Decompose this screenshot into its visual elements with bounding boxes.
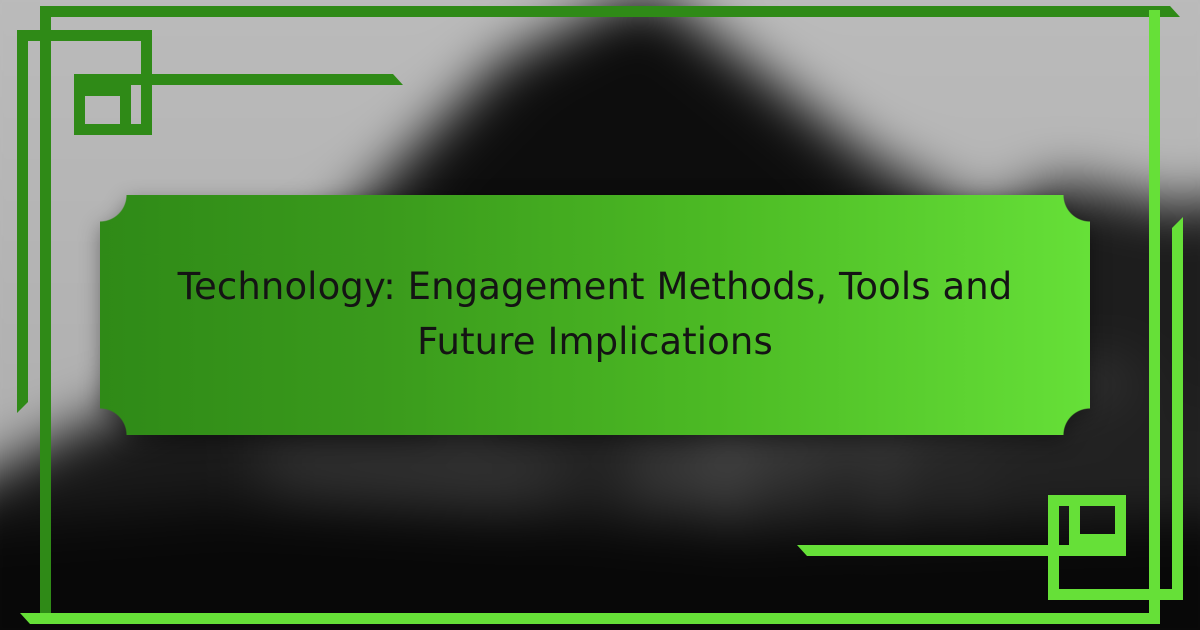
social-card: Technology: Engagement Methods, Tools an…	[0, 0, 1200, 630]
page-title-line-1: Technology: Engagement Methods, Tools an…	[178, 265, 1013, 308]
title-banner: Technology: Engagement Methods, Tools an…	[100, 195, 1090, 435]
page-title: Technology: Engagement Methods, Tools an…	[175, 260, 1015, 370]
page-title-line-2: Future Implications	[417, 320, 773, 363]
